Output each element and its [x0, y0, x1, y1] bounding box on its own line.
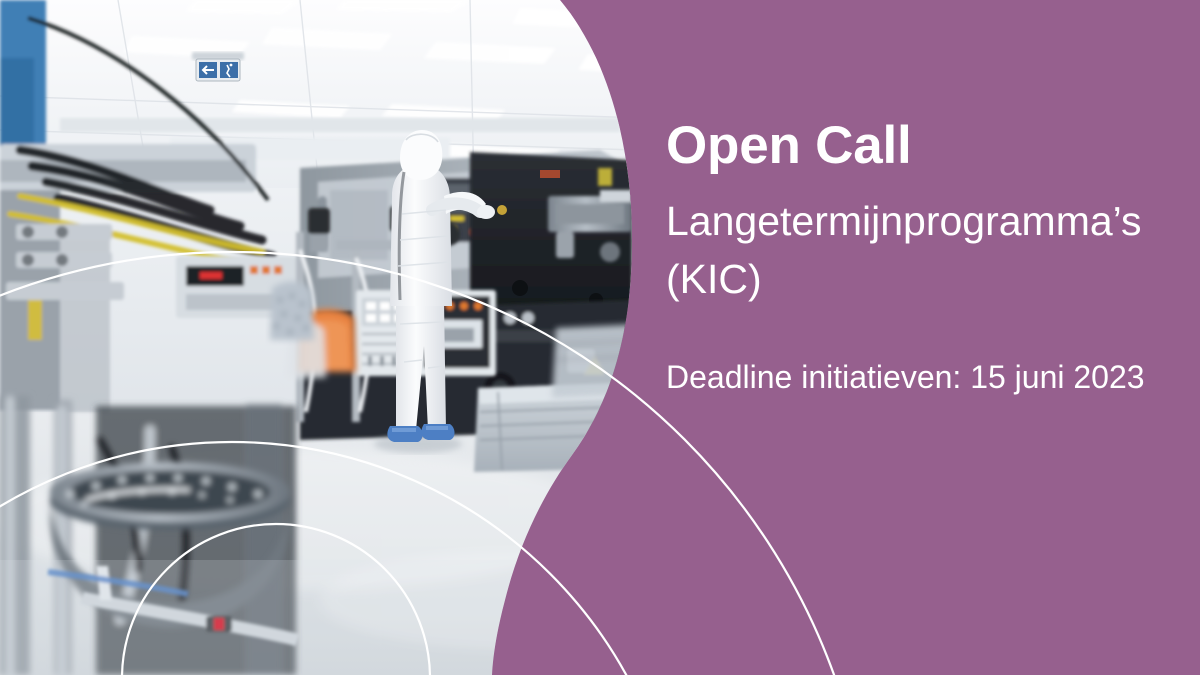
page-subtitle: Langetermijnprogramma’s (KIC) [666, 192, 1166, 308]
hero-photo-graphic [0, 0, 700, 675]
slide-root: Open Call Langetermijnprogramma’s (KIC) … [0, 0, 1200, 675]
exit-sign-graphic [192, 52, 244, 81]
hero-photo [0, 0, 700, 675]
text-block: Open Call Langetermijnprogramma’s (KIC) … [666, 118, 1166, 398]
deadline-text: Deadline initiatieven: 15 juni 2023 [666, 357, 1166, 399]
page-title: Open Call [666, 118, 1166, 174]
